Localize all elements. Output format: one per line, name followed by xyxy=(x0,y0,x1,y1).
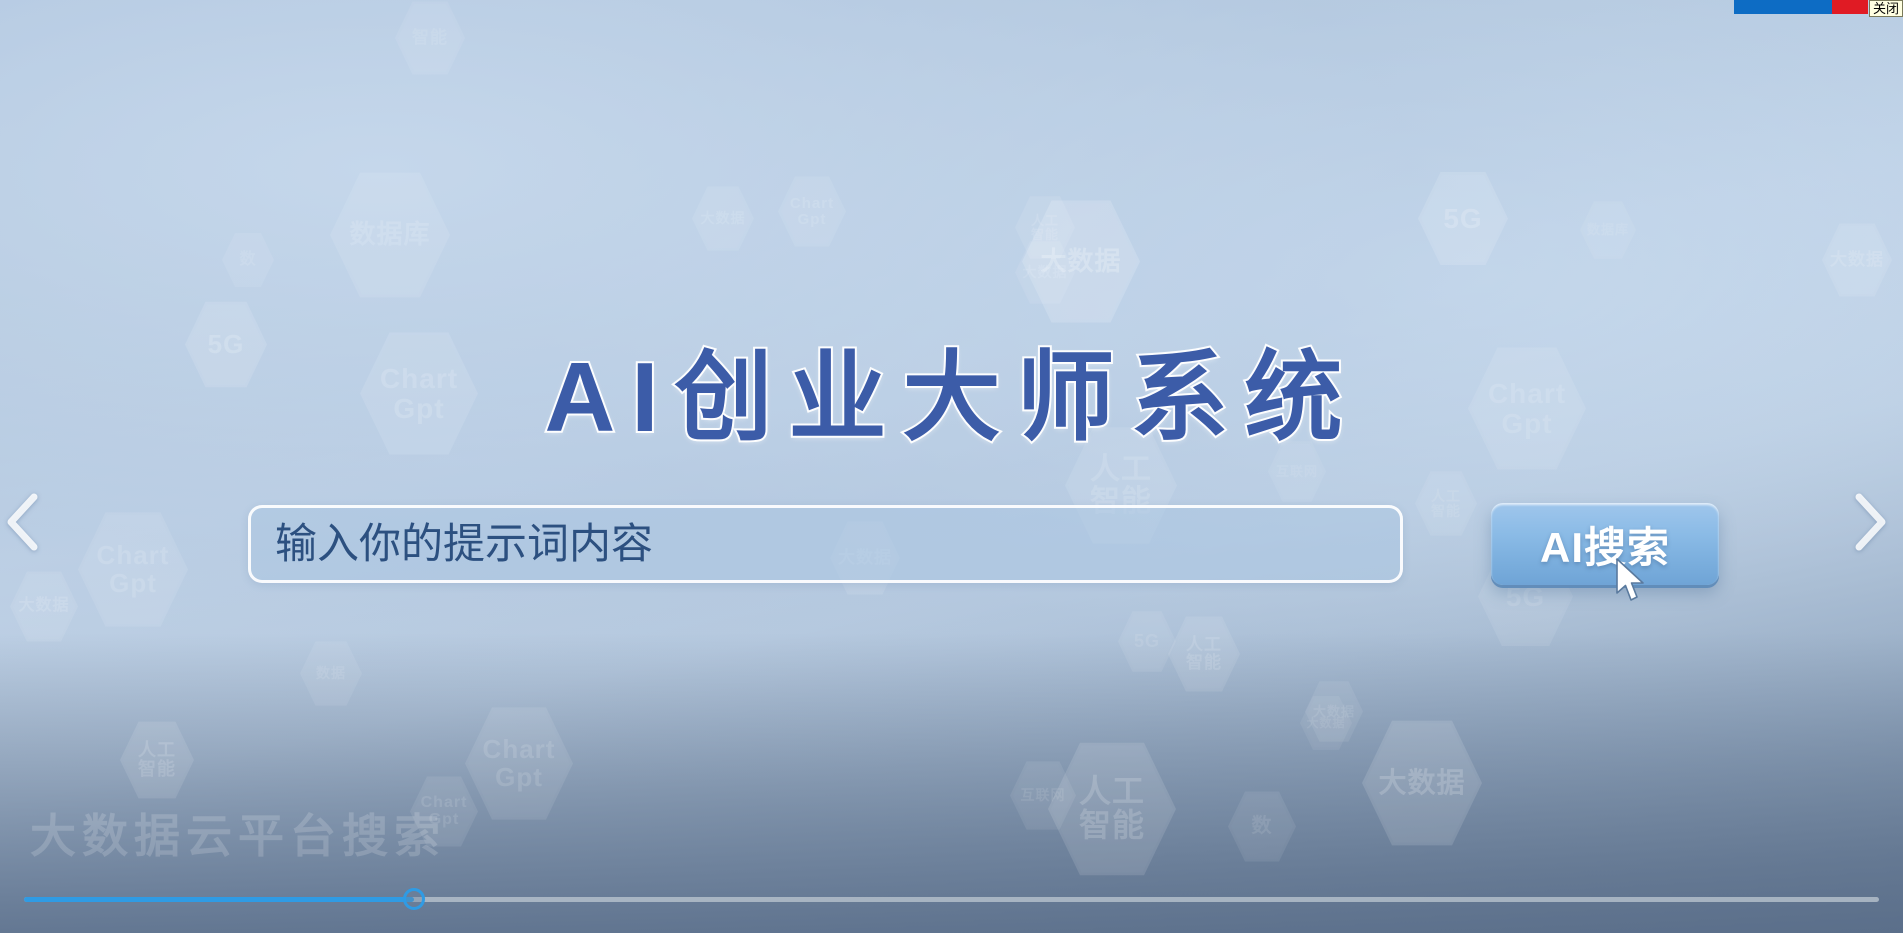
window-chrome: 关闭 xyxy=(1734,0,1903,16)
watermark-text: 大数据云平台搜索 xyxy=(30,800,446,866)
background-gradient xyxy=(0,0,1903,933)
chevron-right-icon xyxy=(1845,487,1891,557)
close-tooltip: 关闭 xyxy=(1869,0,1903,17)
page-title: AI创业大师系统 xyxy=(0,318,1903,460)
search-row: AI搜索 xyxy=(248,503,1719,585)
window-close-button[interactable] xyxy=(1832,0,1868,14)
slider-handle[interactable] xyxy=(403,888,425,910)
ai-search-button[interactable]: AI搜索 xyxy=(1491,503,1719,585)
carousel-next-button[interactable] xyxy=(1845,487,1891,557)
chevron-left-icon xyxy=(2,487,48,557)
carousel-prev-button[interactable] xyxy=(2,487,48,557)
window-titlebar-strip xyxy=(1734,0,1832,14)
slider-fill xyxy=(24,897,414,902)
playback-slider[interactable] xyxy=(24,888,1879,910)
prompt-search-input[interactable] xyxy=(248,505,1403,583)
